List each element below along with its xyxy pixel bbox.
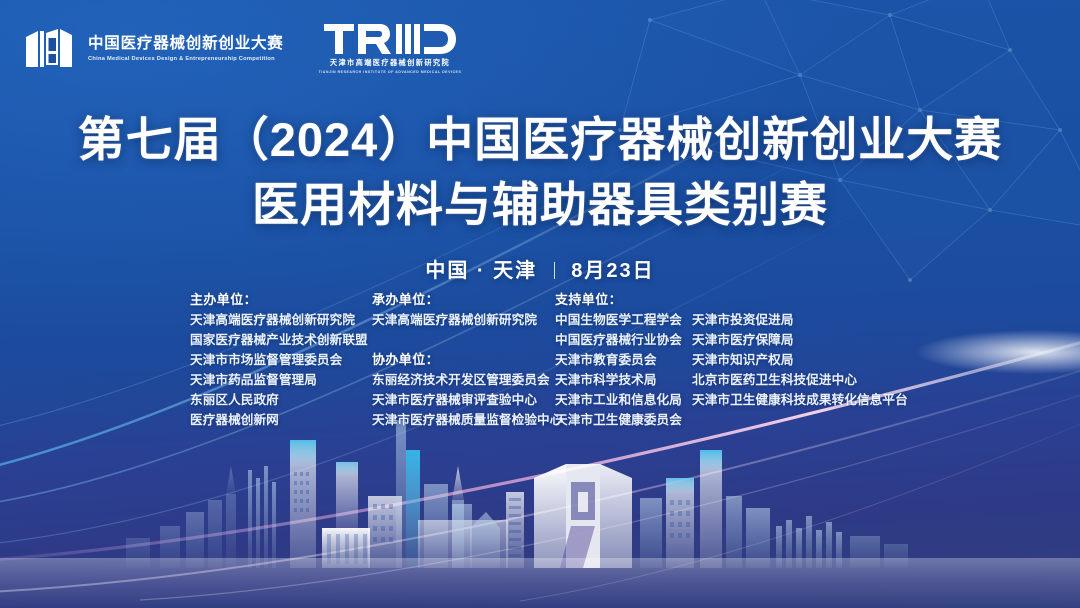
trmd-wordmark-icon (324, 24, 456, 54)
title-line-2: 医用材料与辅助器具类别赛 (0, 177, 1080, 232)
open-door-gate-icon (24, 27, 74, 71)
city-skyline-illustration (0, 408, 1080, 608)
institute-name-zh: 天津市高端医疗器械创新研究院 (330, 58, 450, 68)
organizer-item: 天津市工业和信息化局 (555, 390, 692, 410)
organizer-item: 国家医疗器械产业技术创新联盟 (190, 330, 372, 350)
organizer-item: 北京市医药卫生科技促进中心 (692, 370, 922, 390)
organizer-item: 天津市卫生健康委员会 (555, 410, 692, 430)
organizer-item: 天津市市场监督管理委员会 (190, 350, 372, 370)
event-location: 中国 · 天津 (425, 260, 537, 282)
organizer-heading: 承办单位： (372, 290, 555, 310)
organizer-item: 天津市卫生健康科技成果转化信息平台 (692, 390, 922, 410)
page-title: 第七届（2024）中国医疗器械创新创业大赛 医用材料与辅助器具类别赛 (0, 112, 1080, 233)
organizer-item: 天津市科学技术局 (555, 370, 692, 390)
organizer-item: 天津高端医疗器械创新研究院 (372, 310, 555, 330)
organizer-item: 天津市投资促进局 (692, 310, 922, 330)
gate-building-icon (534, 464, 632, 568)
organizer-item: 天津市药品监督管理局 (190, 370, 372, 390)
organizer-heading: 协办单位： (372, 350, 555, 370)
organizer-column-support-2: 天津市投资促进局 天津市医疗保障局 天津市知识产权局 北京市医药卫生科技促进中心… (692, 290, 922, 410)
organizer-heading: 主办单位： (190, 290, 372, 310)
organizer-item: 天津市知识产权局 (692, 350, 922, 370)
competition-name-zh: 中国医疗器械创新创业大赛 (88, 35, 284, 52)
organizer-item: 中国生物医学工程学会 (555, 310, 692, 330)
organizer-item: 东丽区人民政府 (190, 390, 372, 410)
organizer-item: 天津市医疗保障局 (692, 330, 922, 350)
competition-name-en: China Medical Devices Design & Entrepren… (88, 56, 288, 63)
institute-logo: 天津市高端医疗器械创新研究院 TIANJIN RESEARCH INSTITUT… (319, 24, 462, 74)
organizer-item: 天津市教育委员会 (555, 350, 692, 370)
header-logos: 中国医疗器械创新创业大赛 China Medical Devices Desig… (24, 24, 461, 74)
organizer-heading: 支持单位： (555, 290, 692, 310)
event-subtitle: 中国 · 天津 8月23日 (0, 254, 1080, 283)
organizer-spacer (372, 330, 555, 350)
organizer-column-host: 主办单位： 天津高端医疗器械创新研究院 国家医疗器械产业技术创新联盟 天津市市场… (190, 290, 372, 430)
organizer-item: 天津市医疗器械审评查验中心 (372, 390, 555, 410)
subtitle-divider (554, 262, 555, 279)
organizer-column-undertaker: 承办单位： 天津高端医疗器械创新研究院 协办单位： 东丽经济技术开发区管理委员会… (372, 290, 555, 430)
organizer-list: 主办单位： 天津高端医疗器械创新研究院 国家医疗器械产业技术创新联盟 天津市市场… (190, 290, 930, 430)
organizer-column-support-1: 支持单位： 中国生物医学工程学会 中国医疗器械行业协会 天津市教育委员会 天津市… (555, 290, 692, 430)
event-poster: 中国医疗器械创新创业大赛 China Medical Devices Desig… (0, 0, 1080, 608)
competition-logo-text: 中国医疗器械创新创业大赛 China Medical Devices Desig… (88, 35, 284, 62)
organizer-item: 天津高端医疗器械创新研究院 (190, 310, 372, 330)
institute-name-en: TIANJIN RESEARCH INSTITUTE OF ADVANCED M… (319, 70, 462, 74)
event-date: 8月23日 (571, 260, 654, 282)
organizer-item: 天津市医疗器械质量监督检验中心 (372, 410, 555, 430)
organizer-item: 中国医疗器械行业协会 (555, 330, 692, 350)
organizer-item: 东丽经济技术开发区管理委员会 (372, 370, 555, 390)
title-line-1: 第七届（2024）中国医疗器械创新创业大赛 (0, 112, 1080, 167)
organizer-item: 医疗器械创新网 (190, 410, 372, 430)
